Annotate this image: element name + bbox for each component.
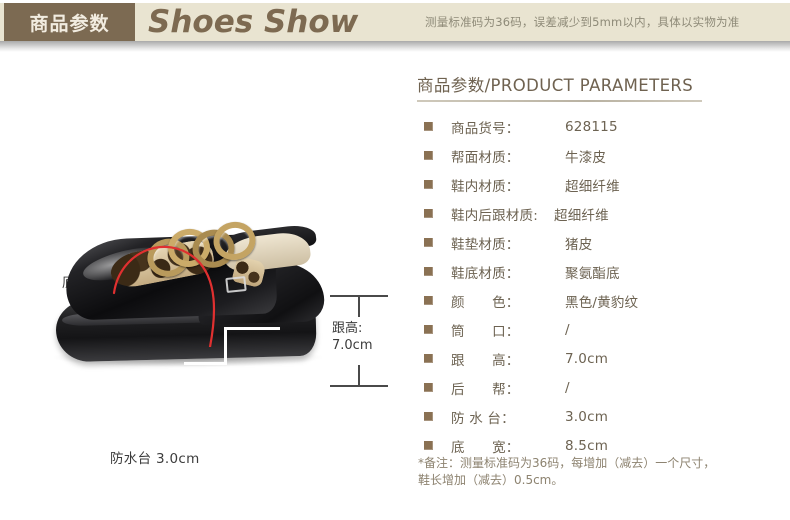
- parameter-key: 鞋内材质：: [451, 175, 520, 195]
- parameter-value: 聚氨酯底: [565, 262, 620, 282]
- parameter-key: 鞋内后跟材质:: [451, 204, 538, 224]
- parameter-value: 3.0cm: [565, 409, 608, 425]
- parameter-row: 商品货号：628115: [417, 112, 777, 141]
- bullet-square-icon: [424, 354, 433, 363]
- heel-dim-lower-line: [358, 365, 360, 386]
- bracket-bottom-cap: [184, 362, 226, 365]
- header-badge: 商品参数: [4, 3, 135, 41]
- bullet-square-icon: [424, 122, 433, 131]
- shoe-image: [48, 215, 348, 395]
- parameter-row: 帮面材质：牛漆皮: [417, 141, 777, 170]
- page-header: 商品参数 Shoes Show 测量标准码为36码，误差减少到5mm以内，具体以…: [0, 3, 790, 41]
- parameter-key: 帮面材质：: [451, 146, 520, 166]
- parameter-key: 商品货号：: [451, 117, 520, 137]
- platform-height-label: 防水台 3.0cm: [110, 447, 200, 467]
- bracket-top-cap: [224, 327, 280, 330]
- parameter-value: 7.0cm: [565, 351, 608, 367]
- parameter-key: 后 帮：: [451, 378, 520, 398]
- parameter-value: 628115: [565, 119, 618, 135]
- header-shadow-divider: [0, 41, 790, 52]
- bracket-vertical-line: [224, 327, 227, 365]
- header-measure-note-text: 测量标准码为36码，误差减少到5mm以内，具体以实物为准: [425, 14, 739, 30]
- parameter-key: 筒 口：: [451, 320, 520, 340]
- shoe-photo-area: 底宽：8.5cm 防水台 3.0cm: [0, 55, 400, 475]
- parameter-row: 跟 高：7.0cm: [417, 344, 777, 373]
- parameter-key: 颜 色：: [451, 291, 520, 311]
- platform-height-bracket: [212, 327, 280, 365]
- bullet-square-icon: [424, 441, 433, 450]
- bullet-square-icon: [424, 238, 433, 247]
- bullet-square-icon: [424, 151, 433, 160]
- bullet-square-icon: [424, 267, 433, 276]
- header-title: Shoes Show: [148, 2, 358, 42]
- bullet-square-icon: [424, 412, 433, 421]
- parameter-row: 后 帮：/: [417, 373, 777, 402]
- heel-height-label-line1: 跟高:: [332, 320, 390, 337]
- parameter-value: 黑色/黄豹纹: [565, 291, 638, 311]
- parameter-row: 防 水 台：3.0cm: [417, 402, 777, 431]
- parameter-key: 底 宽：: [451, 436, 520, 456]
- heel-height-label: 跟高: 7.0cm: [332, 320, 390, 354]
- bullet-square-icon: [424, 180, 433, 189]
- bullet-square-icon: [424, 383, 433, 392]
- parameter-key: 防 水 台：: [451, 407, 515, 427]
- parameter-value: 8.5cm: [565, 438, 608, 454]
- header-measure-note: 测量标准码为36码，误差减少到5mm以内，具体以实物为准: [425, 3, 739, 41]
- parameter-row: 颜 色：黑色/黄豹纹: [417, 286, 777, 315]
- bullet-square-icon: [424, 325, 433, 334]
- parameter-key: 跟 高：: [451, 349, 520, 369]
- product-parameters-page: 商品参数 Shoes Show 测量标准码为36码，误差减少到5mm以内，具体以…: [0, 0, 790, 520]
- heel-dim-bottom-cap: [330, 385, 388, 387]
- bullet-square-icon: [424, 209, 433, 218]
- heel-height-label-line2: 7.0cm: [332, 337, 390, 354]
- parameter-row: 鞋垫材质：猪皮: [417, 228, 777, 257]
- parameter-key: 鞋垫材质：: [451, 233, 520, 253]
- parameter-row: 筒 口：/: [417, 315, 777, 344]
- product-parameters-panel: 商品参数/PRODUCT PARAMETERS 商品货号：628115帮面材质：…: [400, 55, 790, 520]
- params-title: 商品参数/PRODUCT PARAMETERS: [417, 72, 693, 96]
- params-title-divider: [417, 100, 702, 102]
- parameter-value: 牛漆皮: [565, 146, 606, 166]
- bullet-square-icon: [424, 296, 433, 305]
- heel-dim-upper-line: [358, 295, 360, 317]
- parameter-value: /: [565, 322, 570, 338]
- parameter-value: 超细纤维: [565, 175, 620, 195]
- parameter-value: 超细纤维: [554, 204, 609, 224]
- params-footnote: *备注：测量标准码为36码，每增加（减去）一个尺寸，鞋长增加（减去）0.5cm。: [418, 455, 718, 489]
- parameter-key: 鞋底材质：: [451, 262, 520, 282]
- parameter-row: 鞋底材质：聚氨酯底: [417, 257, 777, 286]
- parameter-list: 商品货号：628115帮面材质：牛漆皮鞋内材质：超细纤维鞋内后跟材质:超细纤维鞋…: [417, 112, 777, 460]
- parameter-value: /: [565, 380, 570, 396]
- heel-height-dimension: 跟高: 7.0cm: [330, 295, 388, 387]
- header-title-text: Shoes Show: [148, 4, 358, 40]
- parameter-row: 鞋内后跟材质:超细纤维: [417, 199, 777, 228]
- parameter-value: 猪皮: [565, 233, 592, 253]
- header-badge-label: 商品参数: [29, 9, 109, 36]
- parameter-row: 鞋内材质：超细纤维: [417, 170, 777, 199]
